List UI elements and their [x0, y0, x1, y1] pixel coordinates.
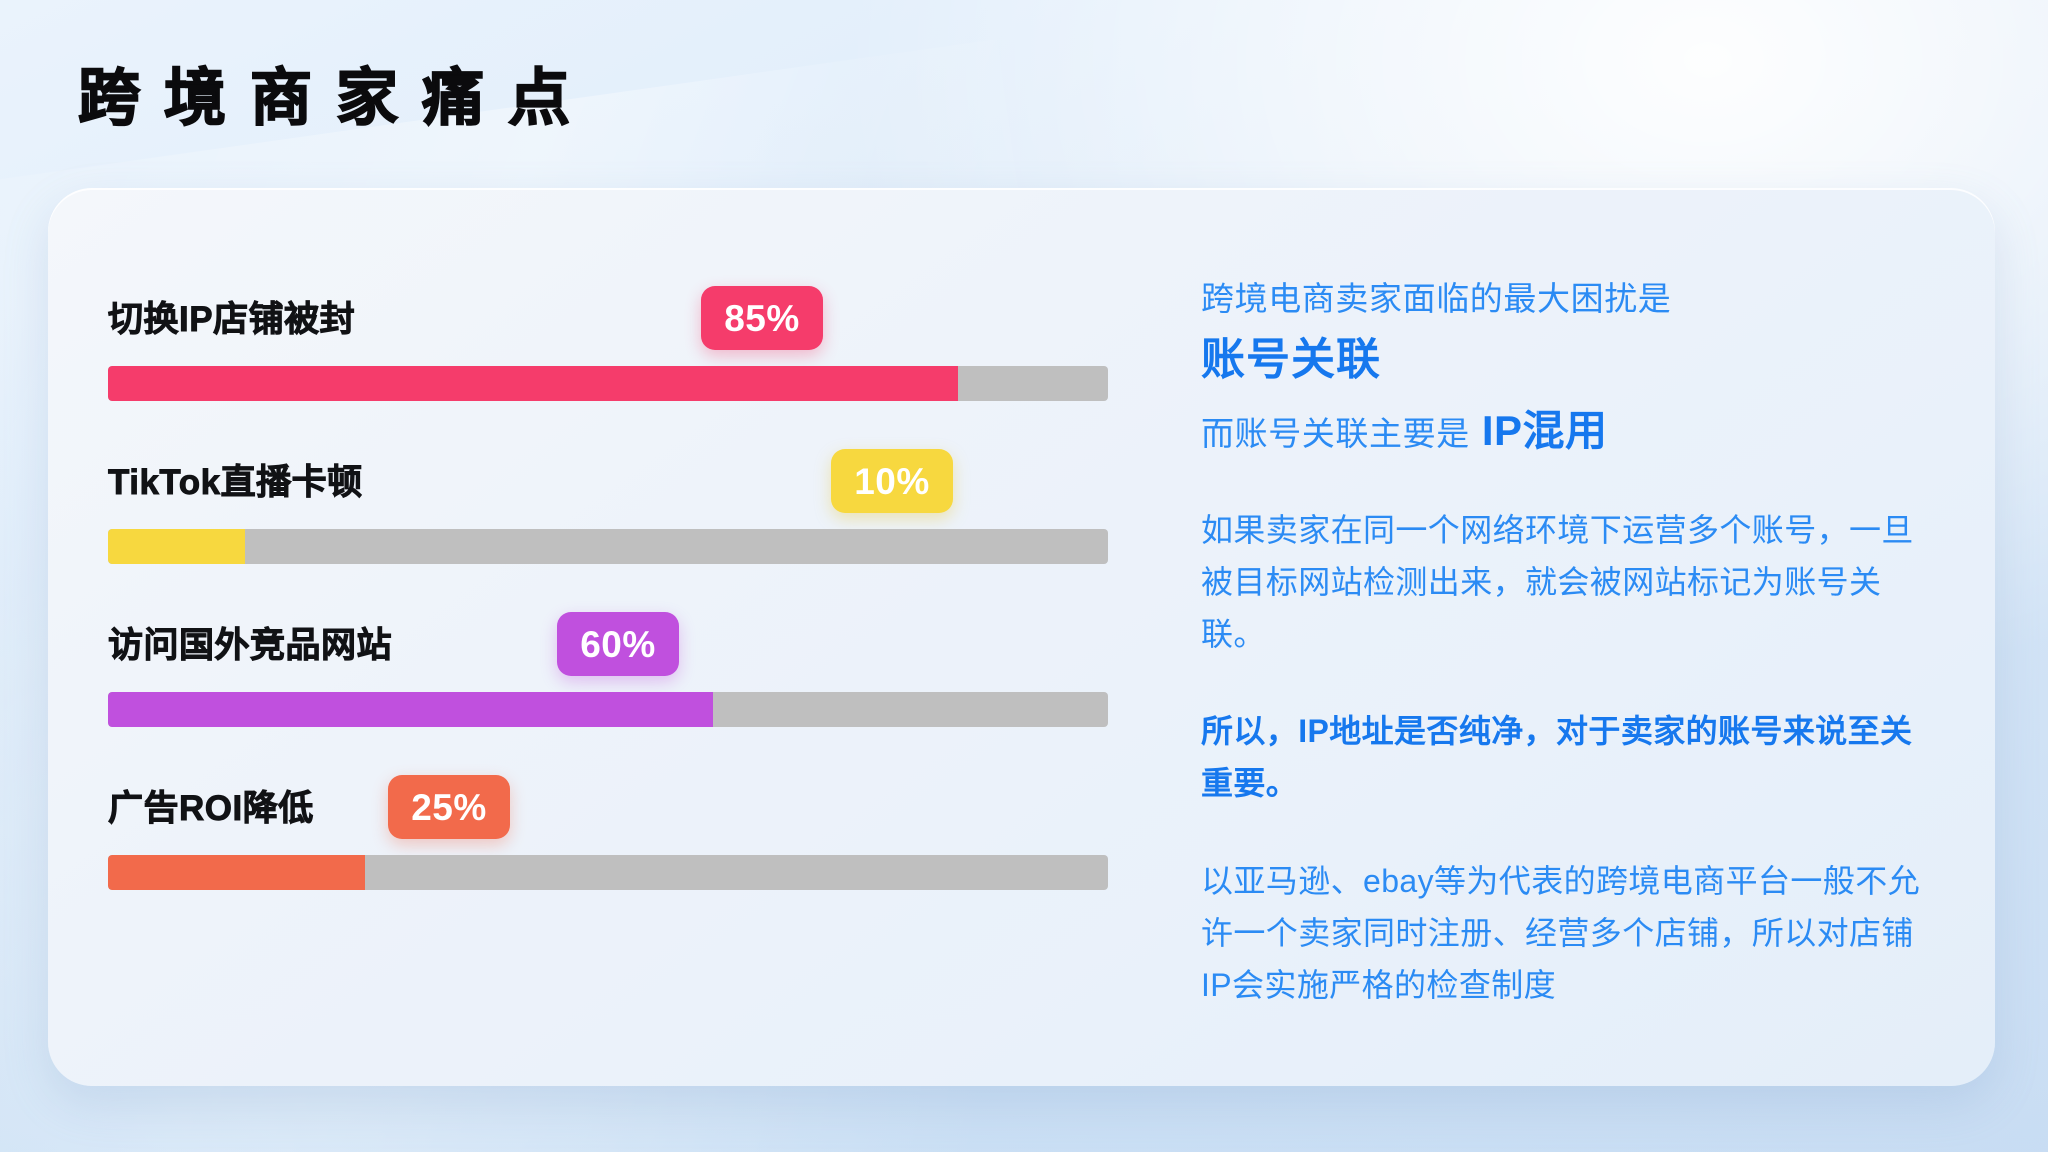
- bar-track: [108, 692, 1108, 727]
- lead-line: 跨境电商卖家面临的最大困扰是: [1201, 276, 1925, 323]
- bar-fill: [108, 529, 245, 564]
- bar-track: [108, 366, 1108, 401]
- paragraph-2: 所以，IP地址是否纯净，对于卖家的账号来说至关重要。: [1201, 706, 1925, 810]
- lead-headline: 账号关联: [1201, 329, 1925, 391]
- lead-subline: 而账号关联主要是IP混用: [1201, 401, 1925, 461]
- bar-value-badge: 10%: [831, 449, 953, 513]
- bar-label: 广告ROI降低: [108, 780, 314, 831]
- bar-fill: [108, 855, 365, 890]
- side-panel: 跨境电商卖家面临的最大困扰是 账号关联 而账号关联主要是IP混用 如果卖家在同一…: [1148, 188, 1995, 1086]
- bar-value-badge: 60%: [557, 612, 679, 676]
- bar-row: 切换IP店铺被封 85%: [108, 260, 1148, 423]
- bar-track: [108, 855, 1108, 890]
- bar-track: [108, 529, 1108, 564]
- bar-row: 广告ROI降低 25%: [108, 749, 1148, 912]
- bar-label: TikTok直播卡顿: [108, 454, 363, 505]
- bar-fill: [108, 366, 958, 401]
- paragraph-1: 如果卖家在同一个网络环境下运营多个账号，一旦被目标网站检测出来，就会被网站标记为…: [1201, 505, 1925, 660]
- lead-subline-prefix: 而账号关联主要是: [1201, 415, 1470, 452]
- bar-row: 访问国外竞品网站 60%: [108, 586, 1148, 749]
- page-title: 跨境商家痛点: [78, 68, 594, 130]
- lead-subline-highlight: IP混用: [1482, 407, 1608, 454]
- bar-chart: 切换IP店铺被封 85% TikTok直播卡顿 10% 访问国外竞品网站: [48, 188, 1148, 1086]
- bar-row: TikTok直播卡顿 10%: [108, 423, 1148, 586]
- bar-fill: [108, 692, 713, 727]
- content-card: 切换IP店铺被封 85% TikTok直播卡顿 10% 访问国外竞品网站: [48, 188, 1995, 1086]
- bar-label: 切换IP店铺被封: [108, 291, 355, 342]
- bar-value-badge: 25%: [388, 775, 510, 839]
- bar-label: 访问国外竞品网站: [108, 617, 392, 668]
- paragraph-3: 以亚马逊、ebay等为代表的跨境电商平台一般不允许一个卖家同时注册、经营多个店铺…: [1201, 856, 1925, 1011]
- bar-value-badge: 85%: [701, 286, 823, 350]
